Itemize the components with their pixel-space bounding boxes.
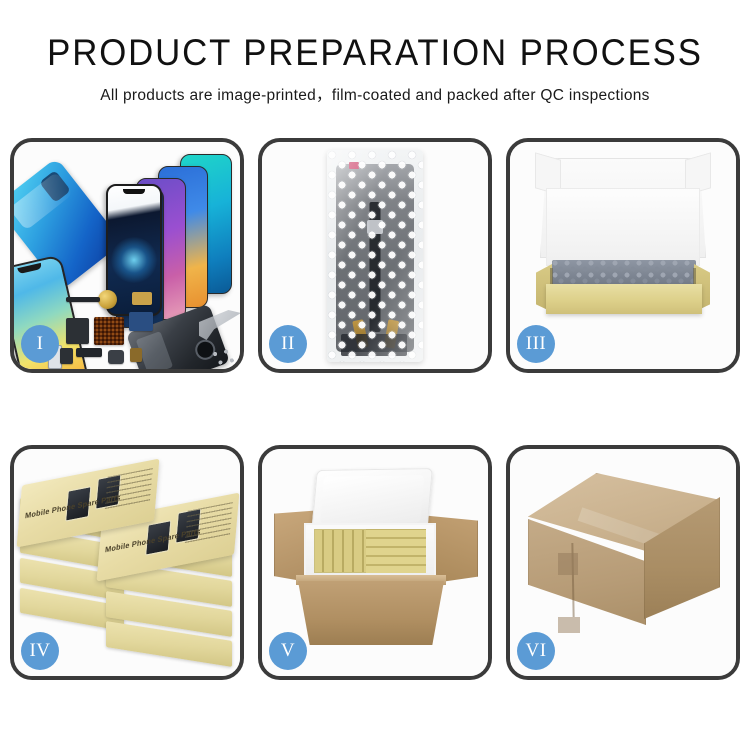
gold-boxes-stack-icon — [366, 529, 426, 573]
button-part-icon — [60, 348, 73, 364]
camera-module-icon — [108, 350, 124, 364]
step-badge-4: IV — [21, 632, 59, 670]
speaker-strip-icon — [66, 297, 100, 302]
bubble-wrap-bag-icon — [327, 150, 423, 362]
carton-front-icon — [298, 581, 444, 645]
step-badge-2: II — [269, 325, 307, 363]
step-panel-4[interactable]: Mobile Phone Spare Parts Mobile Phone Sp… — [10, 445, 244, 680]
white-foam-sheet-icon — [546, 188, 700, 266]
step-grid: I II — [10, 138, 740, 686]
screws-icon — [210, 348, 236, 368]
product-preparation-infographic: PRODUCT PREPARATION PROCESS All products… — [0, 0, 750, 750]
step-badge-5: V — [269, 632, 307, 670]
small-gold-part-icon — [130, 348, 142, 362]
step-panel-5[interactable]: V — [258, 445, 492, 680]
step-badge-6: VI — [517, 632, 555, 670]
antenna-strip-icon — [76, 348, 102, 357]
ic-grid-icon — [94, 317, 124, 345]
header: PRODUCT PREPARATION PROCESS All products… — [0, 0, 750, 105]
gold-flex-icon — [132, 292, 152, 305]
page-subtitle: All products are image-printed，film-coat… — [0, 83, 750, 105]
carton-patch-lower-icon — [558, 617, 580, 633]
connector-icon — [129, 312, 153, 331]
step-badge-1: I — [21, 325, 59, 363]
phone-fan-group — [106, 152, 240, 312]
box-front-icon — [546, 284, 702, 314]
step-badge-3: III — [517, 325, 555, 363]
carton-patch-upper-icon — [558, 553, 578, 575]
flex-cable-icon — [66, 318, 89, 344]
step-panel-3[interactable]: III — [506, 138, 740, 373]
step-panel-1[interactable]: I — [10, 138, 244, 373]
step-panel-6[interactable]: VI — [506, 445, 740, 680]
page-title: PRODUCT PREPARATION PROCESS — [23, 34, 728, 71]
step-panel-2[interactable]: II — [258, 138, 492, 373]
vibrator-motor-icon — [98, 290, 117, 309]
